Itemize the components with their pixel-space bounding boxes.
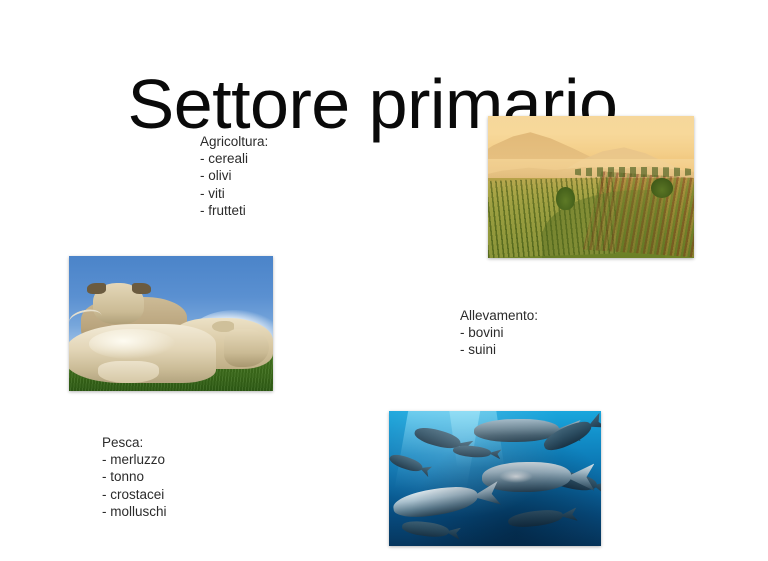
sea-vignette bbox=[389, 411, 601, 546]
cow-horn-right bbox=[132, 283, 150, 294]
block-heading-allevamento: Allevamento: bbox=[460, 307, 538, 324]
list-item: - viti bbox=[200, 185, 268, 202]
list-item: - frutteti bbox=[200, 202, 268, 219]
list-item: - crostacei bbox=[102, 486, 167, 503]
list-item: - cereali bbox=[200, 150, 268, 167]
list-item: - tonno bbox=[102, 468, 167, 485]
cow-highlight bbox=[89, 329, 175, 359]
tuna-photo bbox=[389, 411, 601, 546]
vineyard-bush bbox=[556, 187, 575, 210]
vineyard-tree-line bbox=[570, 167, 694, 177]
block-heading-pesca: Pesca: bbox=[102, 434, 167, 451]
cow-horn-left bbox=[87, 283, 105, 294]
block-heading-agricoltura: Agricoltura: bbox=[200, 133, 268, 150]
list-item: - bovini bbox=[460, 324, 538, 341]
text-block-agricoltura: Agricoltura: - cereali - olivi - viti - … bbox=[200, 133, 268, 219]
cow-lying-right-head bbox=[224, 329, 269, 367]
list-item: - suini bbox=[460, 341, 538, 358]
list-item: - olivi bbox=[200, 167, 268, 184]
text-block-pesca: Pesca: - merluzzo - tonno - crostacei - … bbox=[102, 434, 167, 520]
cattle-photo bbox=[69, 256, 273, 391]
text-block-allevamento: Allevamento: - bovini - suini bbox=[460, 307, 538, 359]
cow-leg bbox=[98, 361, 159, 383]
list-item: - merluzzo bbox=[102, 451, 167, 468]
presentation-slide: Settore primario Agricoltura: - cereali … bbox=[0, 0, 768, 561]
vineyard-photo bbox=[488, 116, 694, 258]
list-item: - molluschi bbox=[102, 503, 167, 520]
